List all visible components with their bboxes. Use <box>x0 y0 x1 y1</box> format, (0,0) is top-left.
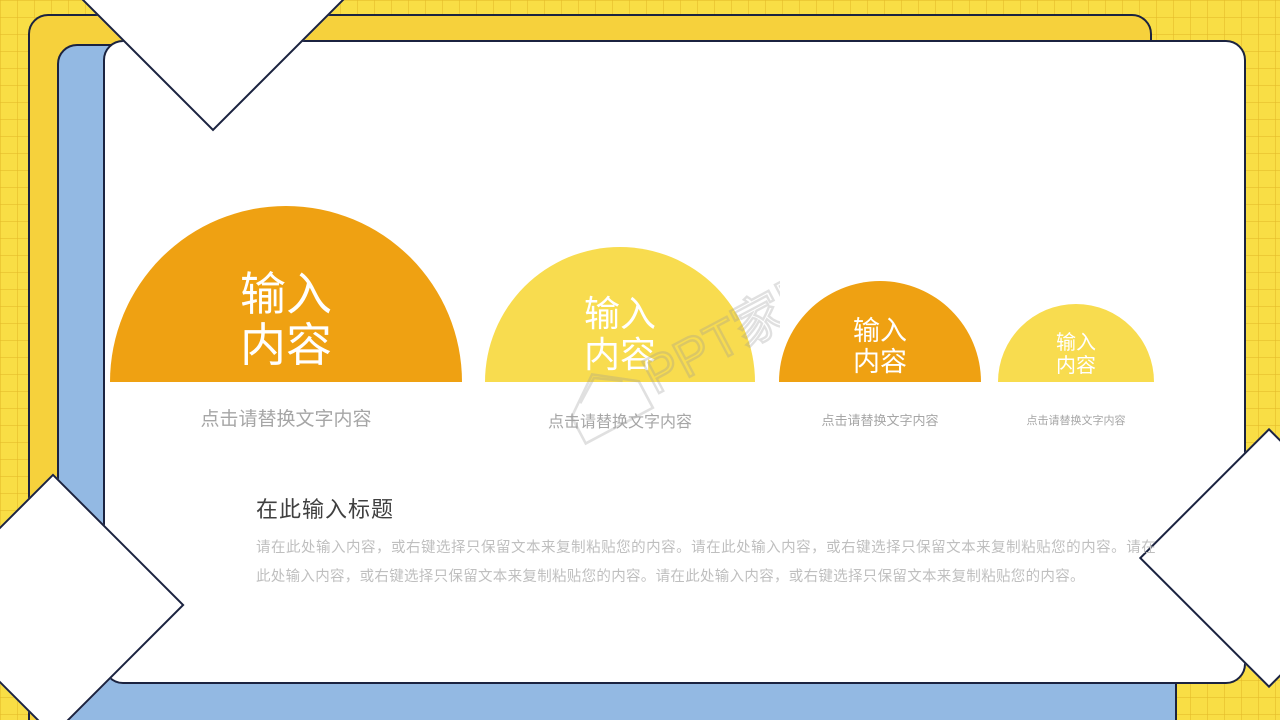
semicircle-row: 输入 内容 点击请替换文字内容 输入 内容 点击请替换文字内容 输入 内容 点击… <box>0 0 1280 720</box>
semicircle-caption-4: 点击请替换文字内容 <box>1027 412 1126 428</box>
semicircle-caption-1: 点击请替换文字内容 <box>200 404 371 431</box>
semicircle-shape-2[interactable]: 输入 内容 <box>485 247 755 382</box>
semicircle-item-1[interactable]: 输入 内容 点击请替换文字内容 <box>110 206 462 442</box>
slide-canvas: 输入 内容 点击请替换文字内容 输入 内容 点击请替换文字内容 输入 内容 点击… <box>0 0 1280 720</box>
semicircle-label-line1-3: 输入 <box>853 316 907 346</box>
semicircle-label-line2-1: 内容 <box>240 320 332 372</box>
semicircle-item-2[interactable]: 输入 内容 点击请替换文字内容 <box>485 247 755 442</box>
semicircle-label-line2-4: 内容 <box>1056 355 1096 377</box>
section-body: 请在此处输入内容，或右键选择只保留文本来复制粘贴您的内容。请在此处输入内容，或右… <box>256 534 1156 592</box>
section-title: 在此输入标题 <box>256 492 1156 524</box>
semicircle-shape-1[interactable]: 输入 内容 <box>110 206 462 382</box>
semicircle-label-line2-2: 内容 <box>584 335 656 375</box>
semicircle-item-4[interactable]: 输入 内容 点击请替换文字内容 <box>998 304 1154 442</box>
semicircle-label-line1-4: 输入 <box>1056 332 1096 354</box>
semicircle-caption-3: 点击请替换文字内容 <box>821 410 938 429</box>
semicircle-item-3[interactable]: 输入 内容 点击请替换文字内容 <box>779 281 981 442</box>
semicircle-caption-2: 点击请替换文字内容 <box>548 408 692 432</box>
semicircle-shape-4[interactable]: 输入 内容 <box>998 304 1154 382</box>
semicircle-shape-3[interactable]: 输入 内容 <box>779 281 981 382</box>
semicircle-label-line1-2: 输入 <box>584 294 656 334</box>
semicircle-label-line1-1: 输入 <box>240 269 332 321</box>
semicircle-label-line2-3: 内容 <box>853 347 907 377</box>
text-block: 在此输入标题 请在此处输入内容，或右键选择只保留文本来复制粘贴您的内容。请在此处… <box>256 492 1156 592</box>
